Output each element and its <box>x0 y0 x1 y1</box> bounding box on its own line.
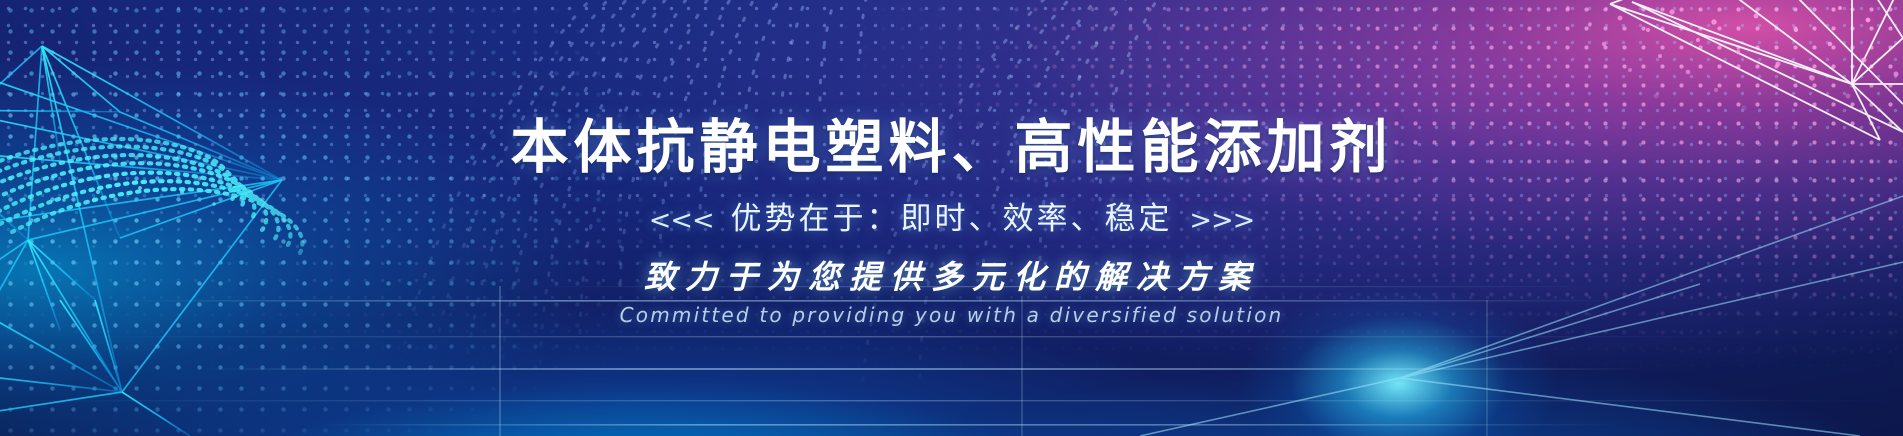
banner-script-tagline: 致力于为您提供多元化的解决方案 <box>0 261 1903 293</box>
banner-subtitle: <<< 优势在于：即时、效率、稳定 >>> <box>0 204 1903 235</box>
banner-text-block: 本体抗静电塑料、高性能添加剂 <<< 优势在于：即时、效率、稳定 >>> 致力于… <box>0 118 1903 325</box>
right-chevrons-icon: >>> <box>1185 205 1258 236</box>
banner-main-title: 本体抗静电塑料、高性能添加剂 <box>0 118 1903 176</box>
banner-subtitle-text: 优势在于：即时、效率、稳定 <box>731 201 1173 237</box>
banner-english-tagline: Committed to providing you with a divers… <box>0 305 1903 325</box>
hero-banner: 本体抗静电塑料、高性能添加剂 <<< 优势在于：即时、效率、稳定 >>> 致力于… <box>0 0 1903 436</box>
left-chevrons-icon: <<< <box>645 205 718 236</box>
